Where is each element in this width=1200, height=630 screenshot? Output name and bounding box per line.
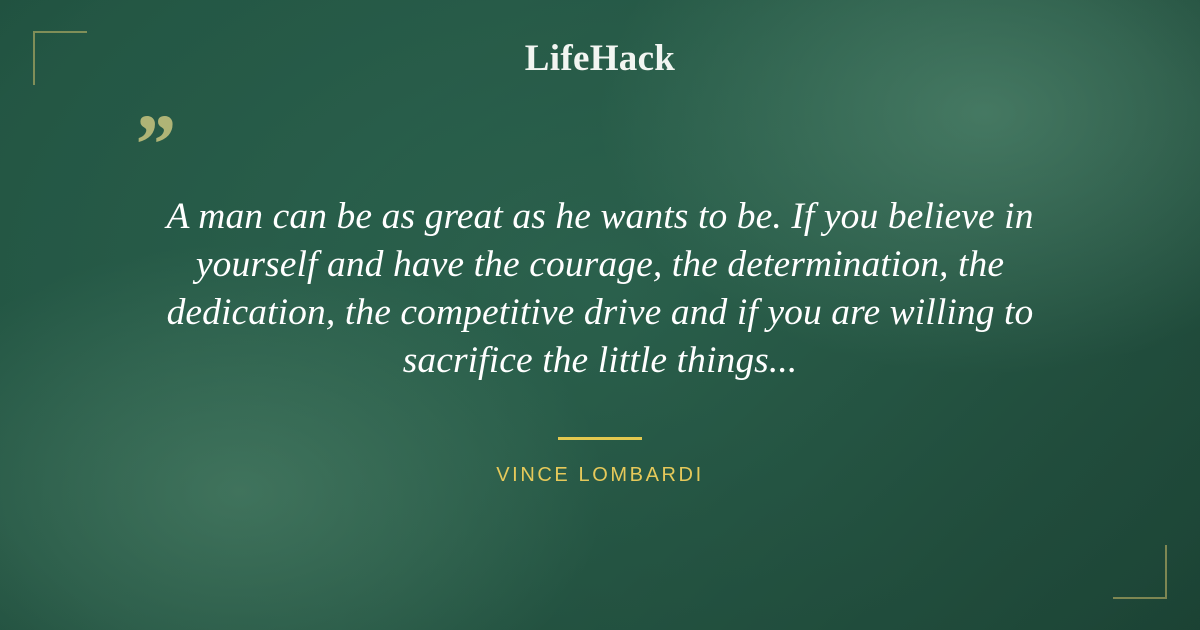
- quote-line: A man can be as great as he wants to be.…: [100, 193, 1100, 241]
- quote-line: dedication, the competitive drive and if…: [100, 289, 1100, 337]
- corner-bracket-bottom-right-icon: [1113, 545, 1167, 599]
- quote-author: VINCE LOMBARDI: [0, 464, 1200, 487]
- quote-card: LifeHack ” A man can be as great as he w…: [0, 0, 1200, 630]
- quotation-mark-icon: ”: [131, 101, 174, 187]
- quote-line: sacrifice the little things...: [100, 337, 1100, 385]
- quote-text: A man can be as great as he wants to be.…: [100, 193, 1100, 385]
- lifehack-logo: LifeHack: [0, 37, 1200, 80]
- gold-divider: [558, 437, 642, 440]
- quote-line: yourself and have the courage, the deter…: [100, 241, 1100, 289]
